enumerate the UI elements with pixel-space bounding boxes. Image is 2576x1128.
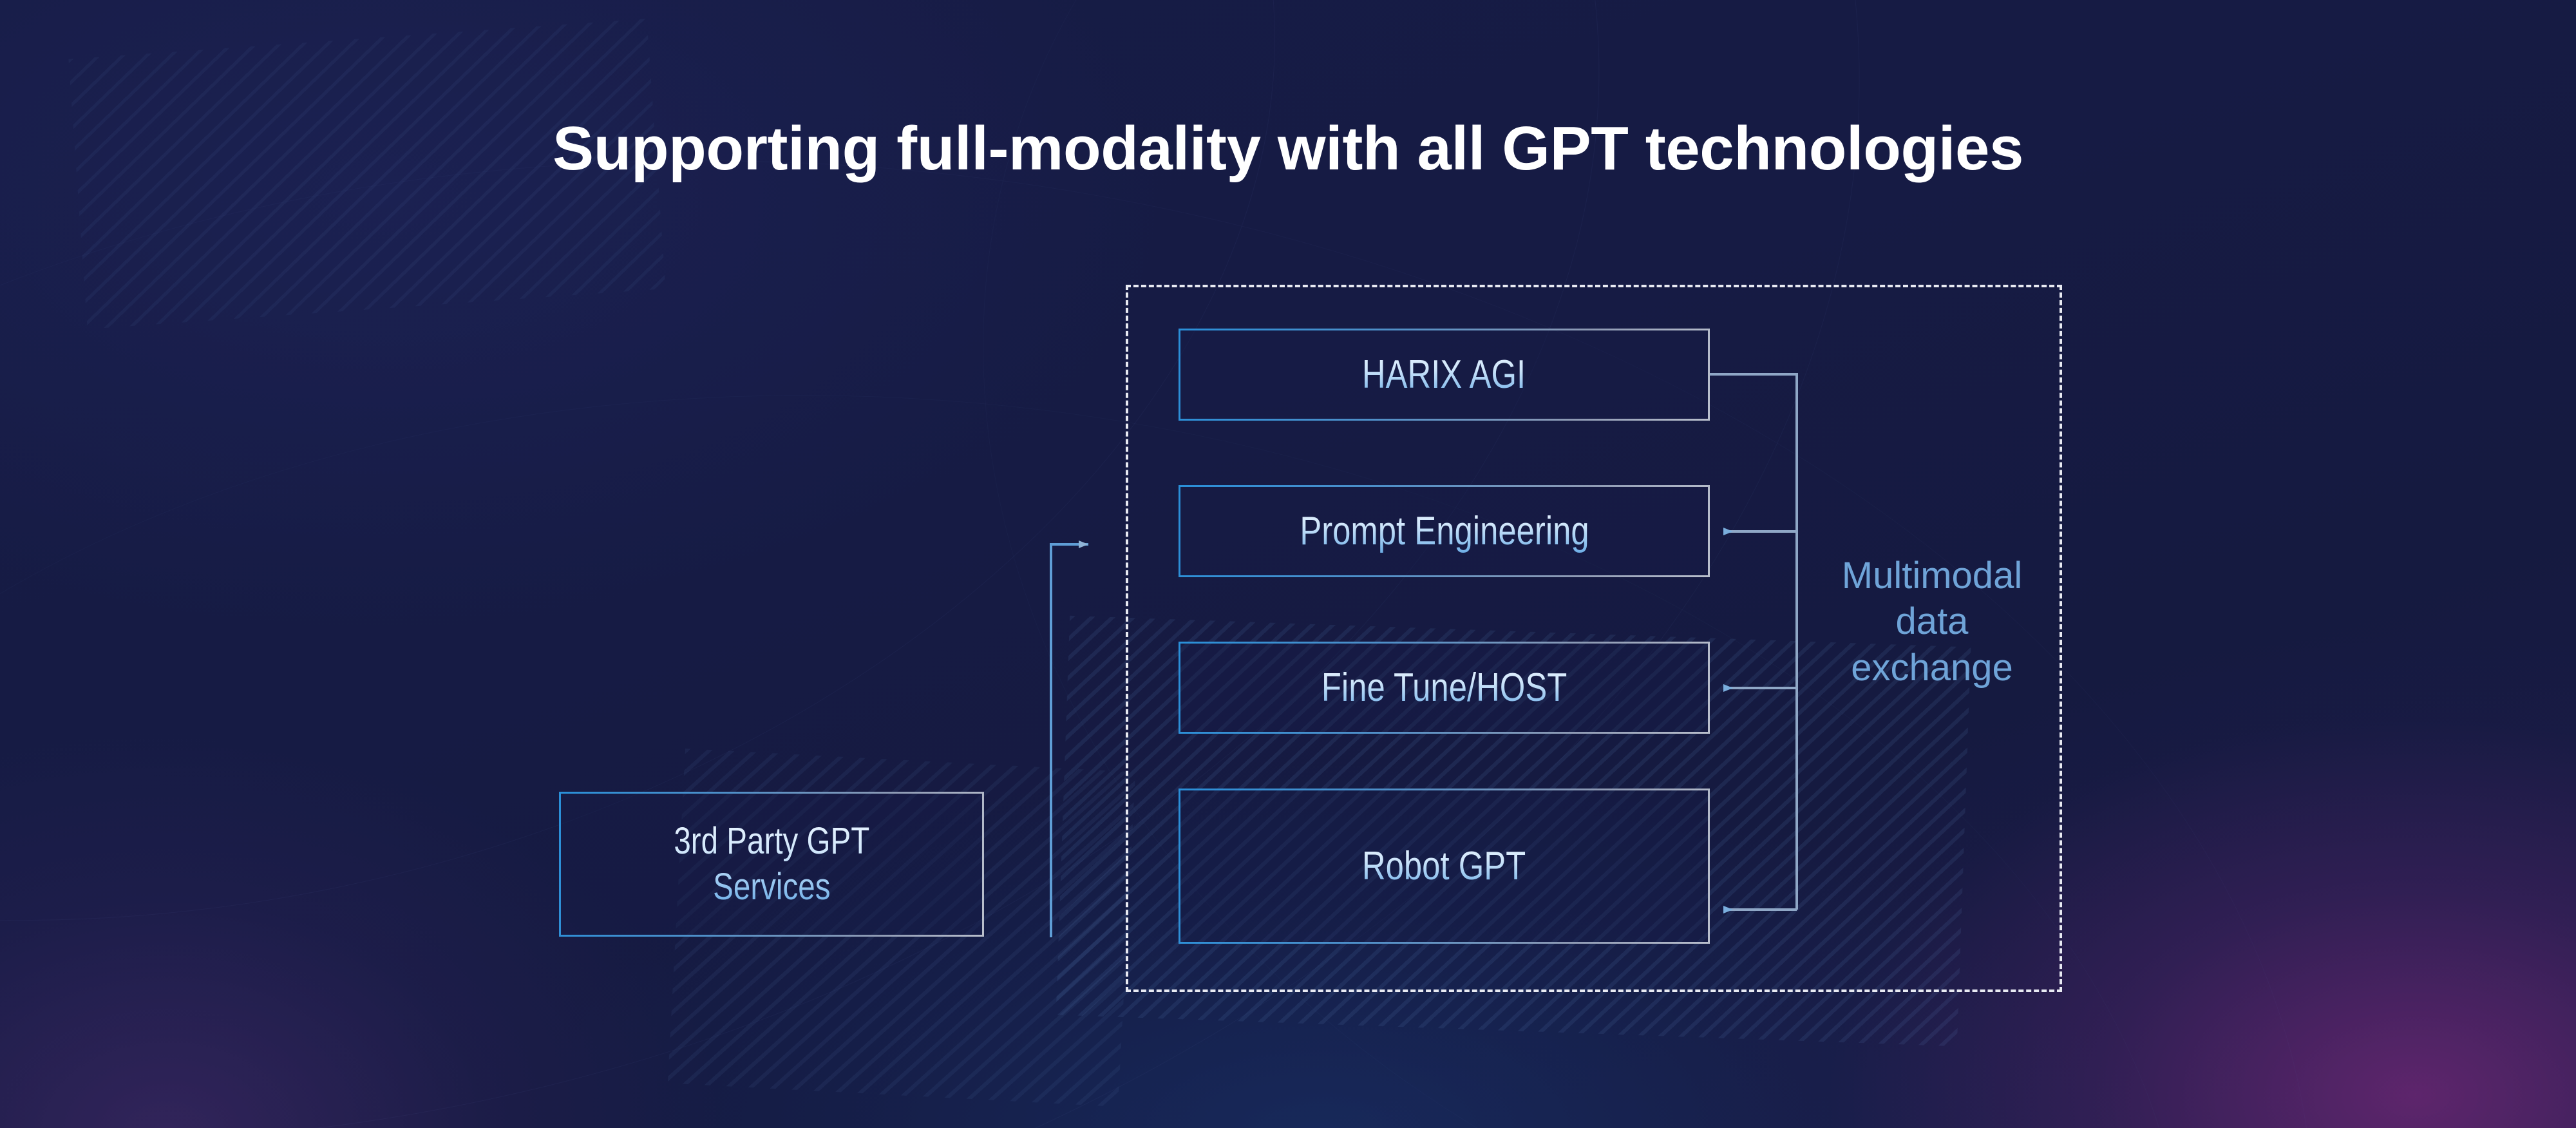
page-title: Supporting full-modality with all GPT te… [0,113,2576,184]
node-harix-agi-label: HARIX AGI [1362,350,1526,399]
node-robot-gpt-label: Robot GPT [1362,842,1526,891]
node-fine-tune-host[interactable]: Fine Tune/HOST [1179,642,1710,734]
multimodal-data-exchange-label: Multimodal data exchange [1810,553,2054,691]
node-third-party-gpt-services[interactable]: 3rd Party GPT Services [559,792,984,937]
node-prompt-engineering-label: Prompt Engineering [1300,507,1589,556]
node-third-party-gpt-services-label: 3rd Party GPT Services [674,819,869,910]
node-robot-gpt[interactable]: Robot GPT [1179,789,1710,944]
node-prompt-engineering[interactable]: Prompt Engineering [1179,485,1710,577]
node-harix-agi[interactable]: HARIX AGI [1179,329,1710,421]
node-fine-tune-host-label: Fine Tune/HOST [1321,664,1567,712]
